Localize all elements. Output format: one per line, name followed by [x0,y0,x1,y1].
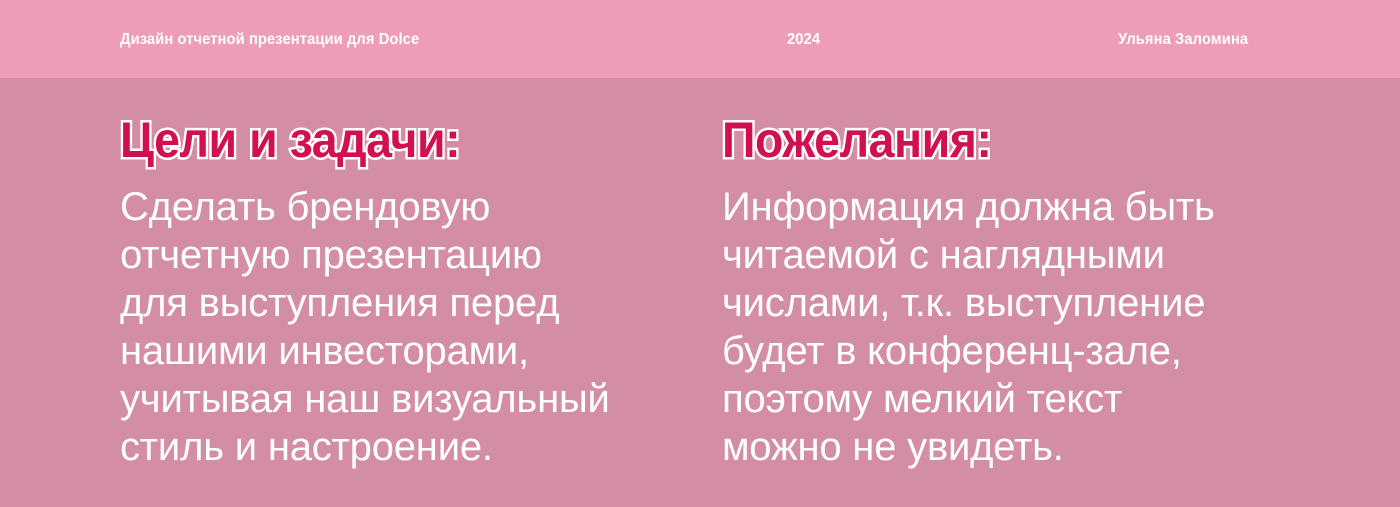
body-line: числами, т.к. выступление [722,279,1302,327]
column-goals-body: Сделать брендовую отчетную презентацию д… [120,183,700,471]
header-project-title: Дизайн отчетной презентации для Dolce [120,31,419,49]
column-wishes-heading: Пожелания: [722,115,1261,165]
body-line: отчетную презентацию [120,231,700,279]
column-goals-heading: Цели и задачи: [120,115,659,165]
body-line: поэтому мелкий текст [722,375,1302,423]
body-line: учитывая наш визуальный [120,375,700,423]
body-line: читаемой с наглядными [722,231,1302,279]
column-wishes: Пожелания: Информация должна быть читаем… [722,78,1302,471]
slide-header-band: Дизайн отчетной презентации для Dolce 20… [0,0,1400,78]
body-line: будет в конференц-зале, [722,327,1302,375]
body-line: стиль и настроение. [120,423,700,471]
body-line: можно не увидеть. [722,423,1302,471]
slide-header-content: Дизайн отчетной презентации для Dolce 20… [0,0,1400,78]
body-line: нашими инвесторами, [120,327,700,375]
presentation-slide: Дизайн отчетной презентации для Dolce 20… [0,0,1400,507]
slide-body-columns: Цели и задачи: Сделать брендовую отчетну… [0,78,1400,507]
header-year: 2024 [787,31,820,49]
body-line: Сделать брендовую [120,183,700,231]
body-line: для выступления перед [120,279,700,327]
header-author-name: Ульяна Заломина [1118,31,1248,49]
column-goals: Цели и задачи: Сделать брендовую отчетну… [120,78,700,471]
column-wishes-body: Информация должна быть читаемой с нагляд… [722,183,1302,471]
body-line: Информация должна быть [722,183,1302,231]
